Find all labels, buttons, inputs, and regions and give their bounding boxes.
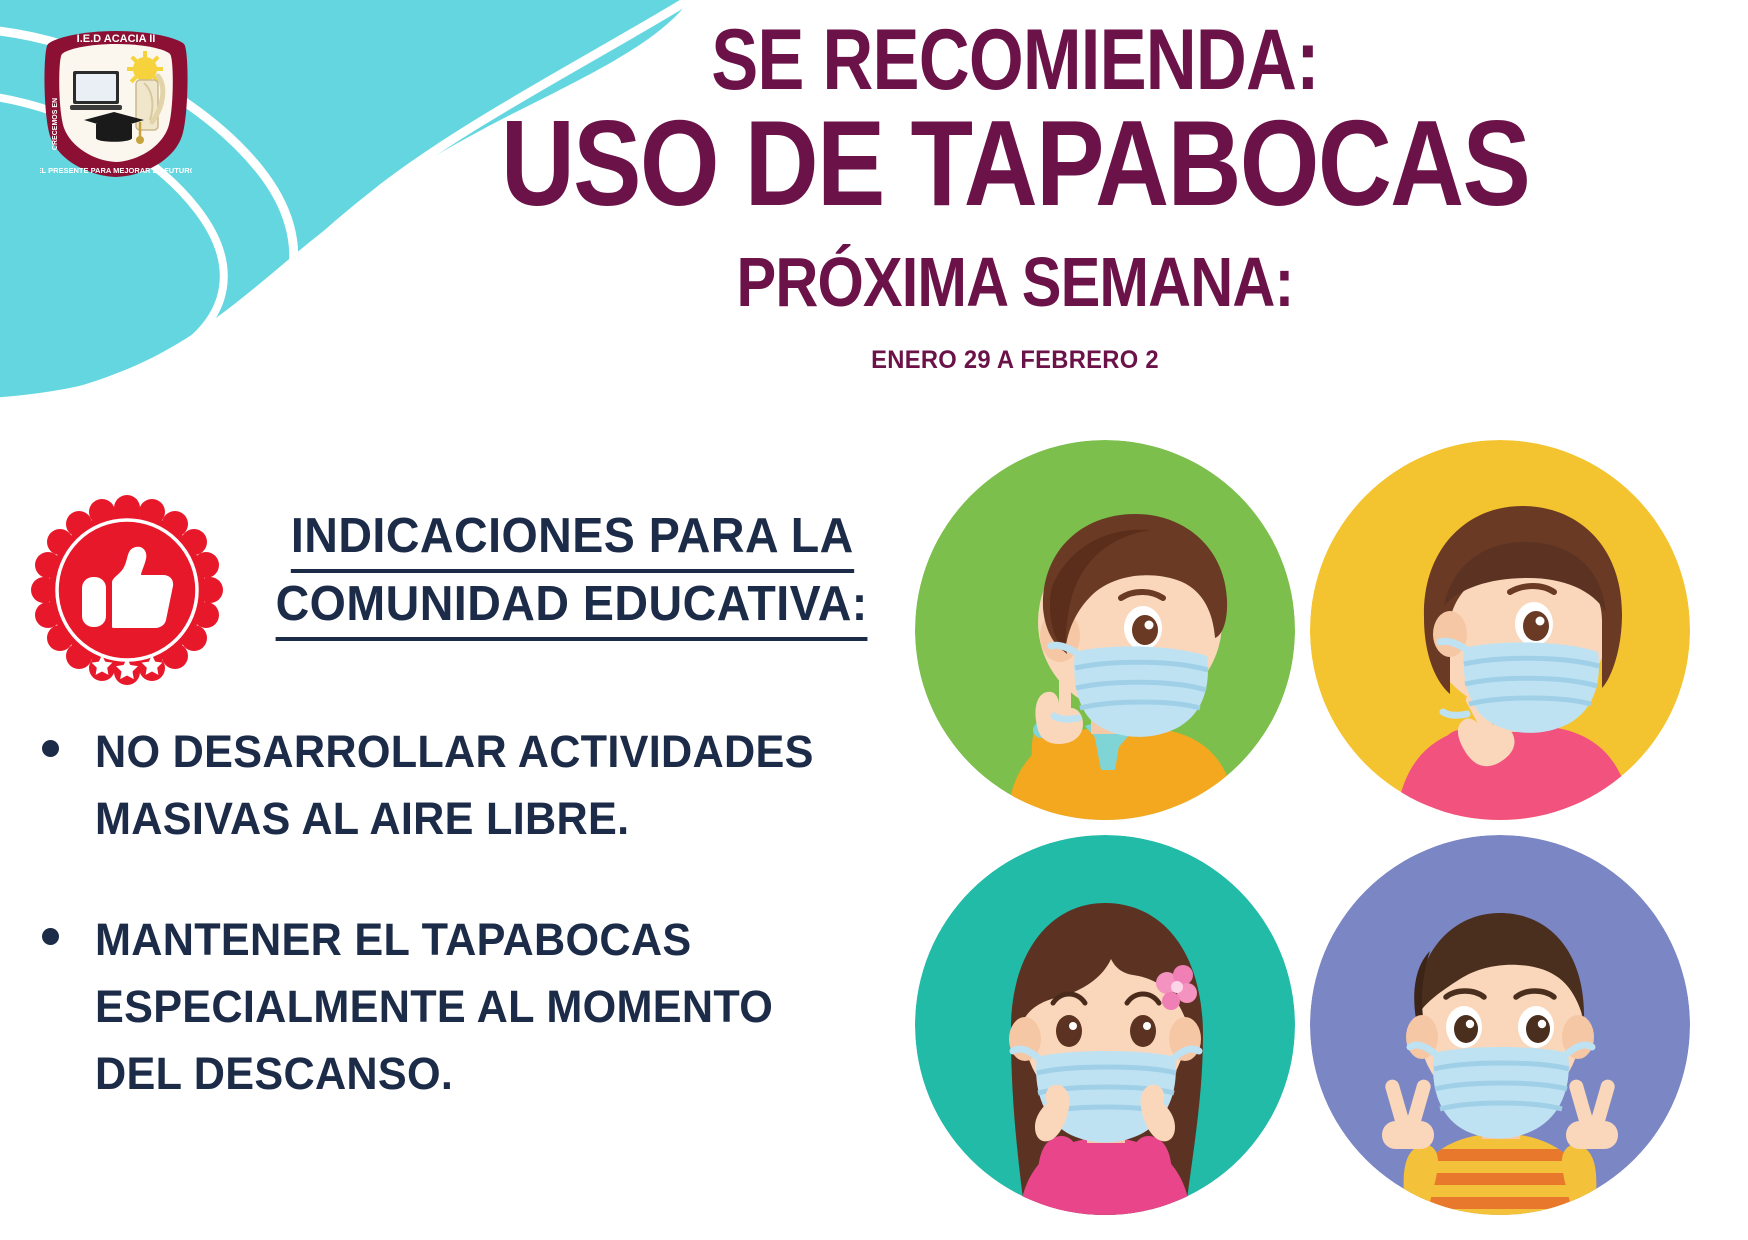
logo-top-text: I.E.D ACACIA II — [77, 33, 156, 45]
thumbs-up-icon — [24, 495, 230, 685]
logo-bottom-text: EL PRESENTE PARA MEJORAR EL FUTURO — [40, 166, 192, 175]
school-logo: I.E.D ACACIA II EL PRESENTE PARA MEJORAR… — [40, 28, 192, 180]
logo-left-text: CRECEMOS EN — [52, 98, 59, 150]
section-heading-line-1: INDICACIONES PARA LA — [291, 505, 854, 573]
date-range: ENERO 29 A FEBRERO 2 — [336, 346, 1695, 375]
bullet-dot-icon — [42, 928, 59, 945]
bullet-dot-icon — [42, 740, 59, 757]
list-item: NO DESARROLLAR ACTIVIDADES MASIVAS AL AI… — [42, 718, 892, 852]
list-item: MANTENER EL TAPABOCAS ESPECIALMENTE AL M… — [42, 906, 892, 1107]
instructions-list: NO DESARROLLAR ACTIVIDADES MASIVAS AL AI… — [42, 718, 892, 1107]
list-item-text: MANTENER EL TAPABOCAS ESPECIALMENTE AL M… — [95, 906, 860, 1107]
headline-line-3: PRÓXIMA SEMANA: — [407, 242, 1623, 322]
poster-canvas: I.E.D ACACIA II EL PRESENTE PARA MEJORAR… — [0, 0, 1748, 1240]
list-item-text: NO DESARROLLAR ACTIVIDADES MASIVAS AL AI… — [95, 718, 860, 852]
section-heading-line-2: COMUNIDAD EDUCATIVA: — [276, 573, 868, 641]
character-girl-adjusting-mask — [915, 835, 1295, 1215]
character-boy-peace-signs — [1310, 835, 1690, 1215]
character-girl-thumbs-up — [1310, 440, 1690, 820]
character-grid — [905, 440, 1725, 1230]
headline-line-2: USO DE TAPABOCAS — [414, 100, 1615, 226]
character-boy-pointing-up — [915, 440, 1295, 820]
section-heading: INDICACIONES PARA LA COMUNIDAD EDUCATIVA… — [252, 505, 892, 641]
headline-block: SE RECOMIENDA: USO DE TAPABOCAS PRÓXIMA … — [300, 14, 1730, 375]
headline-line-1: SE RECOMIENDA: — [429, 14, 1602, 106]
